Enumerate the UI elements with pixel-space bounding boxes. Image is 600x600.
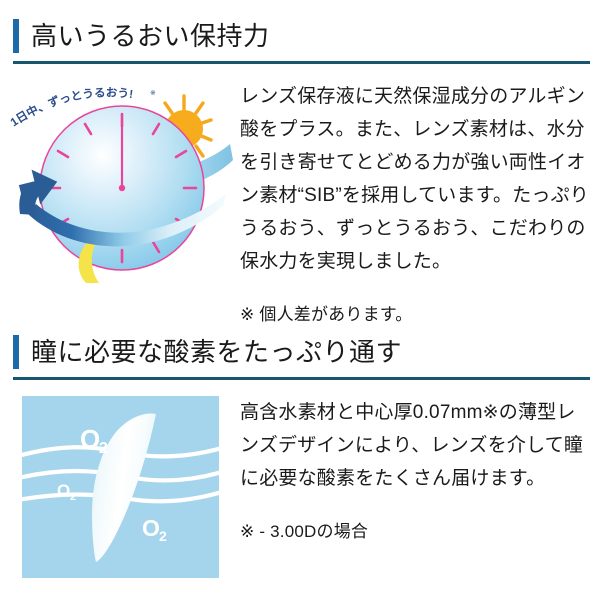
heading-accent-bar (13, 19, 19, 53)
section-header-oxygen-permeability: 瞳に必要な酸素をたっぷり通す (0, 330, 600, 376)
section-title: 瞳に必要な酸素をたっぷり通す (31, 330, 402, 374)
page-title: 高いうるおい保持力 (31, 14, 270, 58)
section-header-moisture-retention: 高いうるおい保持力 (0, 14, 600, 60)
figure-caption-mark: ※ (150, 90, 156, 97)
product-feature-page: 高いうるおい保持力 (0, 0, 600, 600)
oxygen-label-sub: 2 (99, 440, 108, 457)
body-footnote: ※ - 3.00Dの場合 (240, 517, 592, 547)
oxygen-lens-illustration: O 2 O 2 O 2 (22, 396, 219, 578)
body-text-moisture-retention: レンズ保存液に天然保湿成分のアルギン酸をプラス。また、レンズ素材は、水分を引き寄… (240, 80, 592, 330)
heading-accent-bar (13, 335, 19, 369)
oxygen-label-sub: 2 (159, 528, 167, 544)
body-text-oxygen-permeability: 高含水素材と中心厚0.07mm※の薄型レンズデザインにより、レンズを介して瞳に必… (240, 396, 592, 547)
oxygen-label: O (57, 481, 70, 500)
heading-divider (13, 61, 590, 64)
oxygen-label: O (142, 515, 160, 541)
heading-divider (13, 377, 590, 380)
body-paragraph: 高含水素材と中心厚0.07mm※の薄型レンズデザインにより、レンズを介して瞳に必… (240, 396, 592, 495)
oxygen-label: O (80, 424, 100, 454)
oxygen-label-sub: 2 (70, 491, 76, 503)
body-paragraph: レンズ保存液に天然保湿成分のアルギン酸をプラス。また、レンズ素材は、水分を引き寄… (240, 80, 592, 278)
body-footnote: ※ 個人差があります。 (240, 300, 592, 330)
clock-planet-illustration: 1日中、ずっとうるおう! ※ (2, 78, 234, 283)
